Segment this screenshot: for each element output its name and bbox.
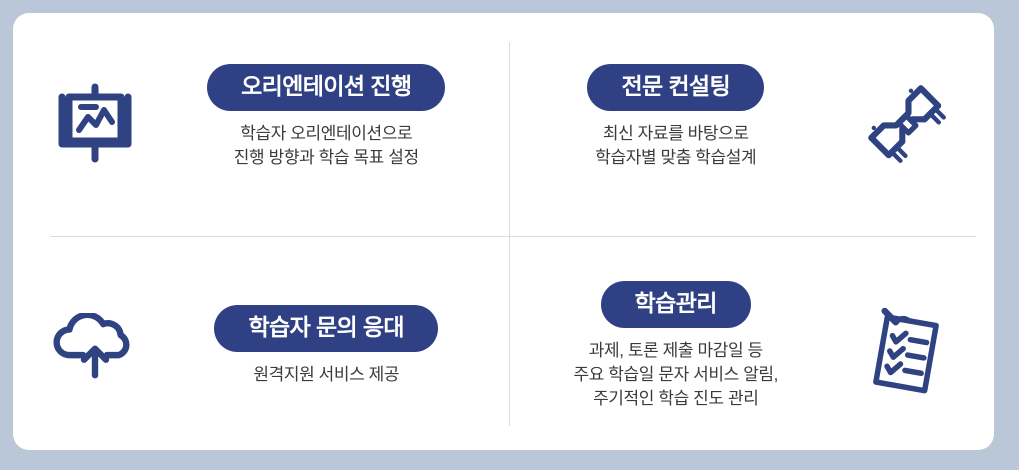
feature-card: 오리엔테이션 진행 학습자 오리엔테이션으로 진행 방향과 학습 목표 설정: [13, 13, 994, 450]
panel-orientation-description: 학습자 오리엔테이션으로 진행 방향과 학습 목표 설정: [234, 122, 419, 170]
page-root: 오리엔테이션 진행 학습자 오리엔테이션으로 진행 방향과 학습 목표 설정: [0, 0, 1019, 470]
handshake-icon: [846, 81, 966, 165]
panel-learning-management-content: 학습관리 과제, 토론 제출 마감일 등 주요 학습일 문자 서비스 알림, 주…: [514, 281, 839, 411]
cloud-upload-icon: [35, 313, 155, 379]
panel-learner-support: 학습자 문의 응대 원격지원 서비스 제공: [13, 232, 504, 451]
panel-consulting-description: 최신 자료를 바탕으로 학습자별 맞춤 학습설계: [595, 122, 756, 170]
panel-consulting-badge: 전문 컨설팅: [587, 64, 764, 111]
feature-grid: 오리엔테이션 진행 학습자 오리엔테이션으로 진행 방향과 학습 목표 설정: [13, 13, 994, 450]
presentation-chart-icon: [35, 83, 155, 163]
panel-learner-support-content: 학습자 문의 응대 원격지원 서비스 제공: [161, 305, 492, 387]
panel-learning-management: 학습관리 과제, 토론 제출 마감일 등 주요 학습일 문자 서비스 알림, 주…: [504, 232, 995, 451]
panel-consulting-content: 전문 컨설팅 최신 자료를 바탕으로 학습자별 맞춤 학습설계: [514, 64, 839, 170]
panel-learning-management-description: 과제, 토론 제출 마감일 등 주요 학습일 문자 서비스 알림, 주기적인 학…: [574, 339, 779, 411]
panel-consulting: 전문 컨설팅 최신 자료를 바탕으로 학습자별 맞춤 학습설계: [504, 13, 995, 232]
panel-orientation-badge: 오리엔테이션 진행: [207, 64, 445, 111]
panel-learning-management-badge: 학습관리: [601, 281, 751, 328]
panel-learner-support-description: 원격지원 서비스 제공: [253, 363, 399, 387]
panel-orientation-content: 오리엔테이션 진행 학습자 오리엔테이션으로 진행 방향과 학습 목표 설정: [161, 64, 492, 170]
panel-orientation: 오리엔테이션 진행 학습자 오리엔테이션으로 진행 방향과 학습 목표 설정: [13, 13, 504, 232]
panel-learner-support-badge: 학습자 문의 응대: [214, 305, 438, 352]
checklist-clipboard-icon: [846, 308, 966, 396]
